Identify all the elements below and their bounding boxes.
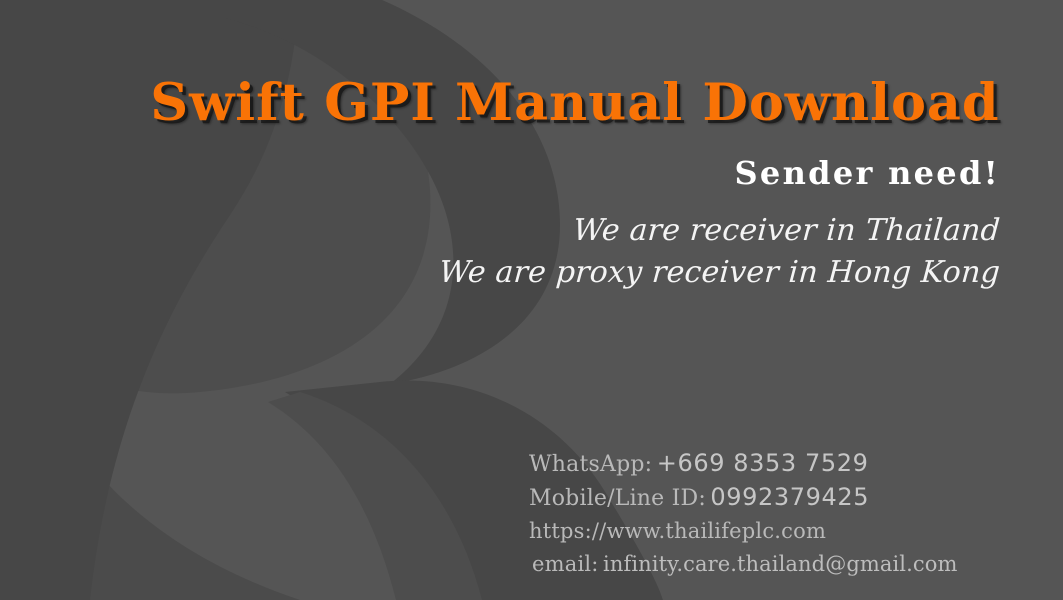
script-line-receiver-thailand: We are receiver in Thailand (0, 210, 1001, 252)
contact-line-email: email: infinity.care.thailand@gmail.com (529, 549, 1009, 582)
whatsapp-number[interactable]: +669 8353 7529 (657, 449, 869, 477)
title-row: Swift GPI Manual Download (0, 78, 1000, 129)
mobile-line-id-label: Mobile/Line ID: (529, 486, 706, 511)
script-text-block: We are receiver in Thailand We are proxy… (0, 210, 1000, 294)
promo-slide: Swift GPI Manual Download Sender need! W… (0, 0, 1063, 600)
mobile-line-id-number[interactable]: 0992379425 (710, 483, 869, 511)
whatsapp-label: WhatsApp: (529, 452, 652, 477)
contact-line-whatsapp: WhatsApp: +669 8353 7529 (529, 448, 1009, 482)
email-label: email: (532, 552, 599, 576)
subhead-row: Sender need! (0, 156, 1000, 192)
email-address[interactable]: infinity.care.thailand@gmail.com (603, 552, 958, 576)
website-url[interactable]: https://www.thailifeplc.com (529, 519, 826, 543)
subheading: Sender need! (735, 156, 1000, 192)
contact-line-website[interactable]: https://www.thailifeplc.com (529, 516, 1009, 549)
contact-line-mobile: Mobile/Line ID: 0992379425 (529, 482, 1009, 516)
page-title: Swift GPI Manual Download (151, 78, 1000, 129)
script-line-proxy-receiver-hongkong: We are proxy receiver in Hong Kong (0, 252, 1001, 294)
contact-block: WhatsApp: +669 8353 7529 Mobile/Line ID:… (529, 448, 1009, 582)
